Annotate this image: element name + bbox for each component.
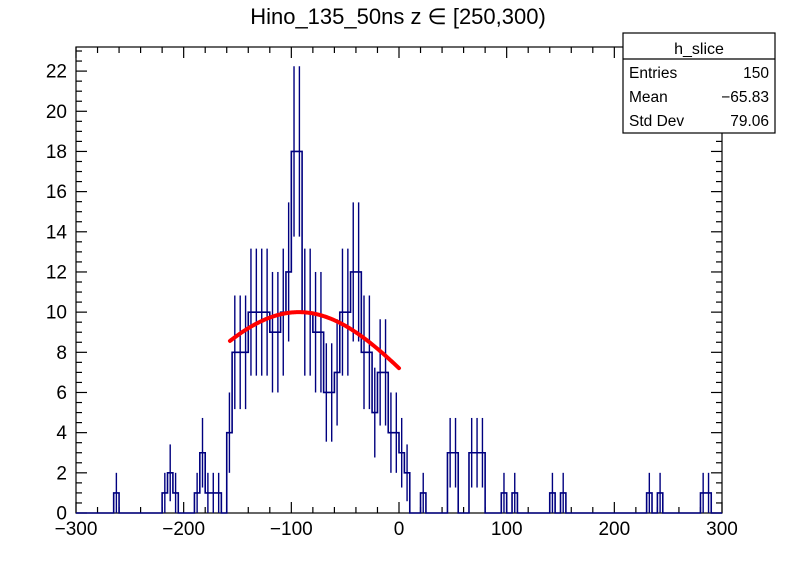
y-axis-tick-label: 12 <box>46 262 67 283</box>
y-axis-tick-label: 10 <box>46 303 67 324</box>
page-title: Hino_135_50ns z ∈ [250,300) <box>250 4 546 29</box>
histogram-plot: Hino_135_50ns z ∈ [250,300) −300−200−100… <box>0 0 796 572</box>
stats-row-label-entries: Entries <box>629 65 677 82</box>
stats-row-label-mean: Mean <box>629 89 668 106</box>
x-axis-tick-label: 300 <box>706 519 738 540</box>
stats-row-value-entries: 150 <box>743 65 769 82</box>
statistics-box[interactable]: h_slice Entries 150 Mean −65.83 Std Dev … <box>623 33 775 133</box>
y-axis-tick-label: 22 <box>46 62 67 83</box>
x-axis-tick-label: 100 <box>491 519 523 540</box>
y-axis-tick-label: 18 <box>46 142 67 163</box>
y-axis-tick-label: 6 <box>56 383 67 404</box>
stats-histogram-name: h_slice <box>674 41 724 58</box>
stats-row-value-mean: −65.83 <box>721 89 769 106</box>
stats-row-value-stddev: 79.06 <box>730 113 769 130</box>
stats-row-label-stddev: Std Dev <box>629 113 684 130</box>
x-axis-tick-label: −100 <box>270 519 313 540</box>
y-axis-tick-label: 16 <box>46 182 67 203</box>
x-axis-tick-label: −200 <box>162 519 205 540</box>
y-axis-tick-label: 8 <box>56 343 67 364</box>
y-axis-tick-label: 14 <box>46 222 68 243</box>
x-axis-tick-label: 200 <box>598 519 630 540</box>
y-axis-tick-label: 20 <box>46 102 67 123</box>
root-canvas: Hino_135_50ns z ∈ [250,300) −300−200−100… <box>0 0 796 572</box>
y-axis-tick-label: 2 <box>56 463 67 484</box>
y-axis-tick-label: 4 <box>56 423 67 444</box>
y-axis-tick-label: 0 <box>56 504 67 525</box>
x-axis-tick-label: 0 <box>394 519 405 540</box>
